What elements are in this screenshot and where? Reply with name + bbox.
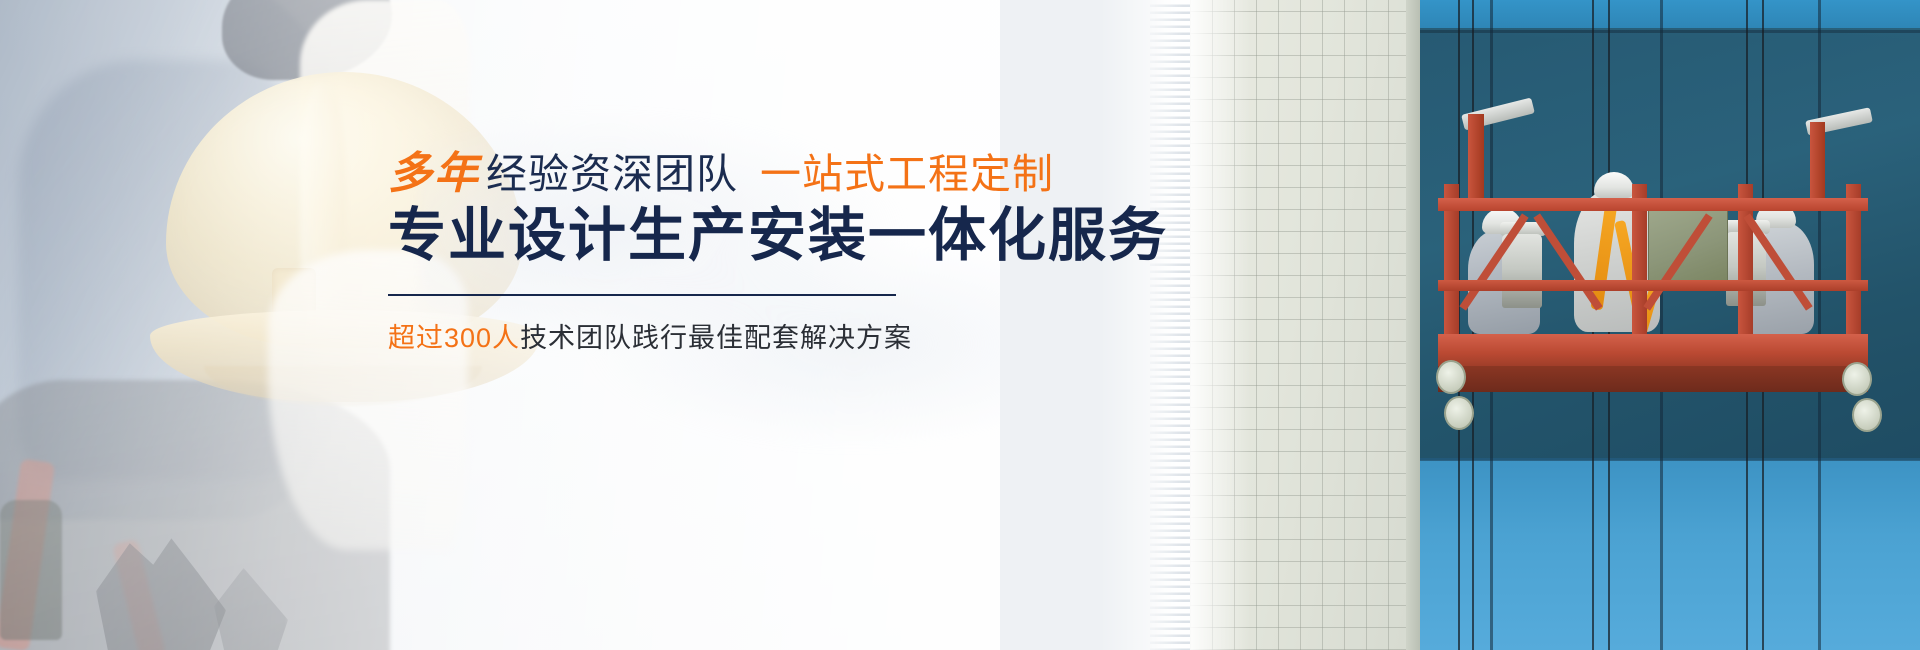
pulley-icon bbox=[1444, 396, 1474, 430]
headline-line-2: 专业设计生产安装一体化服务 bbox=[388, 204, 1048, 268]
gondola-deck bbox=[1438, 334, 1868, 368]
gondola-top-rail bbox=[1438, 198, 1868, 211]
gondola-stirrup-post bbox=[1810, 122, 1825, 200]
suspended-gondola-platform bbox=[1438, 184, 1868, 424]
building-corner-edge bbox=[1406, 0, 1420, 650]
glass-bright-reflection bbox=[1420, 460, 1920, 650]
right-gondola-photo bbox=[1190, 0, 1920, 650]
window-transom bbox=[1420, 458, 1920, 461]
headline-experience: 经验资深团队 bbox=[486, 151, 738, 197]
banner-copy: 多年经验资深团队一站式工程定制 专业设计生产安装一体化服务 超过300人技术团队… bbox=[388, 152, 1048, 355]
pulley-icon bbox=[1436, 360, 1466, 394]
pulley-icon bbox=[1852, 398, 1882, 432]
headline-one-stop: 一站式工程定制 bbox=[760, 151, 1054, 197]
right-photo-left-fade bbox=[1190, 0, 1250, 650]
hero-banner: 多年经验资深团队一站式工程定制 专业设计生产安装一体化服务 超过300人技术团队… bbox=[0, 0, 1920, 650]
subtitle-team-count: 超过300人 bbox=[388, 323, 520, 353]
headline-line-1: 多年经验资深团队一站式工程定制 bbox=[388, 152, 1048, 196]
gondola-stirrup-post bbox=[1468, 114, 1484, 200]
pulley-icon bbox=[1842, 362, 1872, 396]
banner-subtitle: 超过300人技术团队践行最佳配套解决方案 bbox=[388, 316, 1048, 355]
sky-strip bbox=[1420, 0, 1920, 30]
headline-divider bbox=[388, 294, 896, 296]
gondola-deck-underside bbox=[1438, 366, 1868, 392]
gondola-mid-rail bbox=[1438, 280, 1868, 291]
window-transom bbox=[1420, 30, 1920, 33]
headline-years: 多年 bbox=[388, 149, 486, 198]
subtitle-text: 技术团队践行最佳配套解决方案 bbox=[520, 323, 912, 353]
